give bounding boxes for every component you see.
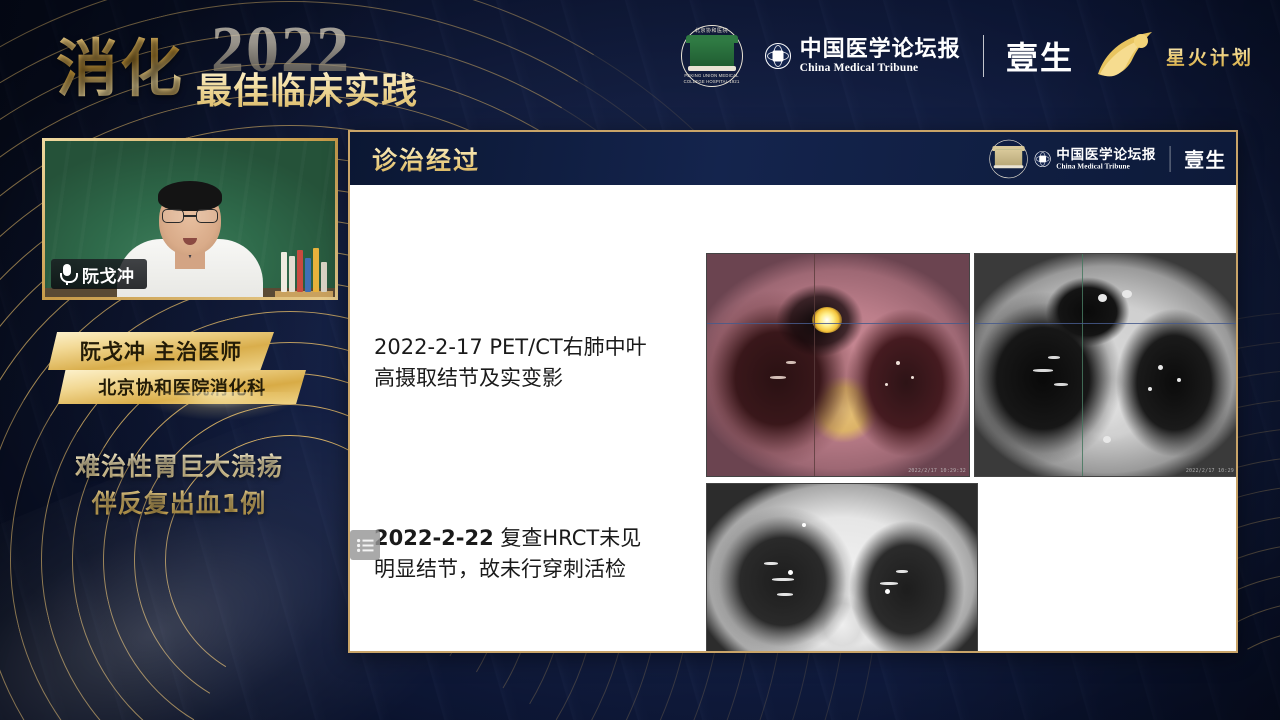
pet-ct-timestamp: 2022/2/17 10:29:32	[908, 468, 966, 474]
slide-hospital-seal-icon	[989, 139, 1027, 177]
speaker-affiliation: 北京协和医院消化科	[98, 374, 265, 400]
yisheng-label: 壹生	[1006, 33, 1074, 79]
pet-hotspot	[812, 307, 842, 333]
speaker-hair	[158, 181, 222, 211]
hospital-seal-top-text: 北京协和医院	[681, 27, 743, 34]
xinghuo-label: 星火计划	[1166, 43, 1254, 70]
slide-header-logos: 中国医学论坛报 China Medical Tribune 壹生	[989, 139, 1226, 177]
speaker-video-tile[interactable]: 阮戈冲	[42, 138, 338, 300]
slide-tribune-name-en: China Medical Tribune	[1056, 163, 1156, 170]
speaker-badge-name: 阮戈冲	[82, 262, 135, 287]
event-branding: 2022 消化 最佳临床实践	[48, 8, 448, 108]
microphone-icon	[59, 264, 75, 284]
globe-icon	[765, 43, 791, 69]
partner-logos: 北京协和医院 PEKING UNION MEDICAL COLLEGE HOSP…	[681, 20, 1254, 92]
tribune-name-cn: 中国医学论坛报	[800, 38, 961, 60]
china-medical-tribune-logo: 中国医学论坛报 China Medical Tribune 壹生	[765, 33, 1074, 79]
top-banner: 2022 消化 最佳临床实践 北京协和医院 PEKING UNION MEDIC…	[0, 0, 1280, 118]
xinghuo-program-logo: 星火计划	[1096, 30, 1254, 82]
speaker-affiliation-ribbon: 北京协和医院消化科	[58, 370, 306, 404]
hrct-axial-image	[706, 483, 978, 653]
case-title-line-1: 难治性胃巨大溃疡	[0, 448, 358, 485]
slide-header: 诊治经过 中国医学论坛报 China Medical Tribune	[350, 132, 1236, 185]
event-title-sub: 最佳临床实践	[196, 62, 418, 114]
case-title-line-2: 伴反复出血1例	[0, 485, 358, 522]
list-menu-icon	[357, 539, 374, 552]
books	[281, 246, 327, 292]
slide-globe-icon	[1034, 150, 1050, 166]
slide-text-block-1: 2022-2-17 PET/CT右肺中叶 高摄取结节及实变影	[374, 332, 694, 393]
ct-axial-image: 2022/2/17 10:29	[974, 253, 1238, 477]
slide-text-2-date: 2022-2-22	[374, 526, 494, 550]
slide-tribune-logo: 中国医学论坛报 China Medical Tribune 壹生	[1034, 144, 1226, 173]
slide-text-1-line-2: 高摄取结节及实变影	[374, 363, 694, 394]
presentation-slide[interactable]: 诊治经过 中国医学论坛报 China Medical Tribune	[348, 130, 1238, 653]
slide-text-2-line-1: 复查HRCT未见	[494, 526, 642, 550]
slide-title: 诊治经过	[372, 141, 480, 177]
hospital-seal-icon: 北京协和医院 PEKING UNION MEDICAL COLLEGE HOSP…	[681, 25, 743, 87]
speaker-name-title: 阮戈冲 主治医师	[80, 336, 242, 366]
case-title: 难治性胃巨大溃疡 伴反复出血1例	[0, 448, 358, 522]
hospital-seal-bottom-text: PEKING UNION MEDICAL COLLEGE HOSPITAL 19…	[681, 73, 743, 84]
speaker-name-badge: 阮戈冲	[51, 259, 147, 289]
ct-timestamp: 2022/2/17 10:29	[1186, 468, 1234, 474]
speaker-glasses	[162, 209, 218, 223]
tribune-name-en: China Medical Tribune	[800, 63, 961, 75]
slide-text-1-line-1: 2022-2-17 PET/CT右肺中叶	[374, 332, 694, 363]
slide-text-2-line-2: 明显结节，故未行穿刺活检	[374, 554, 694, 585]
logo-divider	[983, 35, 984, 77]
slide-text-block-2: 2022-2-22 复查HRCT未见 明显结节，故未行穿刺活检	[374, 523, 694, 584]
slide-list-menu-button[interactable]	[350, 530, 380, 560]
flying-person-icon	[1096, 30, 1158, 82]
screen: 2022 消化 最佳临床实践 北京协和医院 PEKING UNION MEDIC…	[0, 0, 1280, 720]
event-title-main: 消化	[56, 18, 184, 108]
slide-yisheng-label: 壹生	[1184, 144, 1226, 173]
speaker-name-ribbon: 阮戈冲 主治医师	[48, 332, 274, 370]
slide-tribune-name-cn: 中国医学论坛报	[1056, 147, 1156, 161]
pet-ct-fusion-image: 2022/2/17 10:29:32	[706, 253, 970, 477]
slide-content: 2022-2-17 PET/CT右肺中叶 高摄取结节及实变影 2022-2-22…	[350, 185, 1236, 651]
